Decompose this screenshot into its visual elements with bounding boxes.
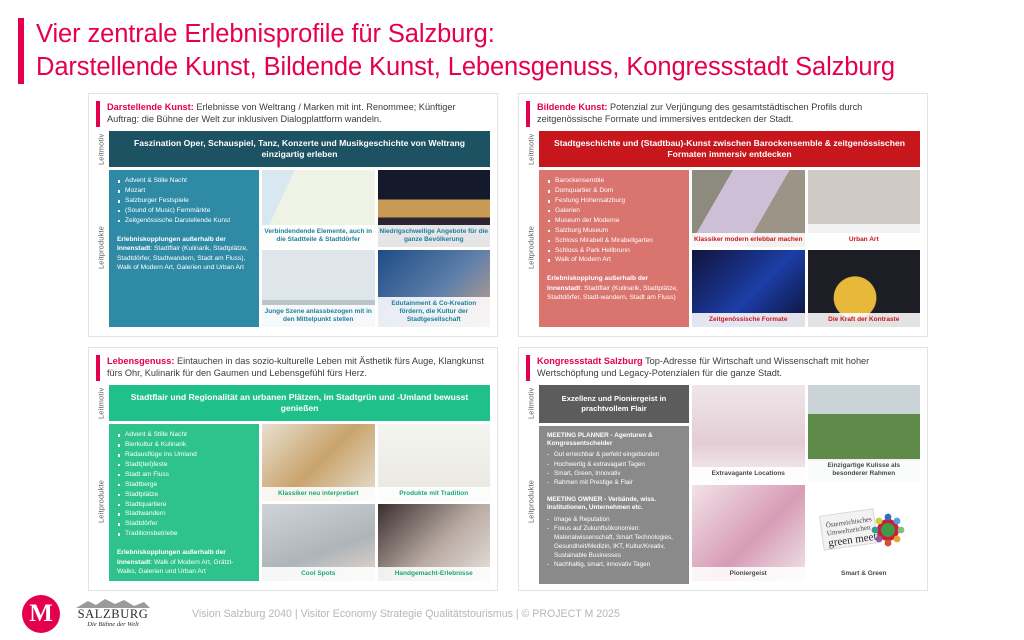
image-tile: Einzigartige Kulisse als besonderer Rahm…: [808, 385, 921, 482]
panel-lead-label: Kongressstadt Salzburg: [537, 356, 643, 366]
panel-lower: Exzellenz und Pioniergeist in prachtvoll…: [539, 385, 920, 581]
list-item: Advent & Stille Nacht: [117, 176, 252, 186]
page-title: Vier zentrale Erlebnisprofile für Salzbu…: [18, 18, 1008, 84]
list-item: Galerien: [547, 206, 682, 216]
panel-body: Leitmotiv LeitprodukteStadtflair und Reg…: [89, 385, 497, 588]
panel-header: Lebensgenuss: Eintauchen in das sozio-ku…: [89, 348, 497, 385]
tile-caption: Extravagante Locations: [692, 467, 805, 481]
rail-label-leitprodukte: Leitprodukte: [93, 421, 109, 581]
image-tile: Klassiker modern erlebbar machen: [692, 170, 805, 247]
panel-accent-bar: [526, 101, 530, 127]
image-grid: Verbindendende Elemente, auch in die Sta…: [262, 170, 490, 327]
leitmotiv-banner: Stadtflair und Regionalität an urbanen P…: [109, 385, 490, 421]
title-text: Vier zentrale Erlebnisprofile für Salzbu…: [36, 18, 895, 84]
rail-label-leitmotiv: Leitmotiv: [523, 131, 539, 167]
leitmotiv-banner: Faszination Oper, Schauspiel, Tanz, Konz…: [109, 131, 490, 167]
list-item: Fokus auf Zukunftsökonomien: Materialwis…: [547, 524, 682, 561]
erlebniskopplung-text: Erlebniskopplungen außerhalb der Innenst…: [117, 235, 252, 273]
leitmotiv-leitprodukte-column: Exzellenz und Pioniergeist in prachtvoll…: [539, 385, 689, 581]
tile-caption: Junge Szene anlassbezogen mit in den Mit…: [262, 305, 375, 327]
list-item: Smart, Green, Innovativ: [547, 469, 682, 478]
image-tile: Pioniergeist: [692, 485, 805, 582]
rail-label-leitprodukte: Leitprodukte: [523, 421, 539, 581]
panel-lebensgenuss: Lebensgenuss: Eintauchen in das sozio-ku…: [88, 347, 498, 591]
panel-header: Kongressstadt Salzburg Top-Adresse für W…: [519, 348, 927, 385]
panel-header: Darstellende Kunst: Erlebnisse von Weltr…: [89, 94, 497, 131]
panel-darstellende-kunst: Darstellende Kunst: Erlebnisse von Weltr…: [88, 93, 498, 337]
image-tile: Cool Spots: [262, 504, 375, 581]
list-item: Walk of Modern Art: [547, 255, 682, 265]
image-tile: Verbindendende Elemente, auch in die Sta…: [262, 170, 375, 247]
panel-main: Stadtflair und Regionalität an urbanen P…: [109, 385, 490, 581]
image-grid: Klassiker modern erlebbar machenUrban Ar…: [692, 170, 920, 327]
leitprodukte-list: Advent & Stille NachtMozartSalzburger Fe…: [117, 176, 252, 225]
panel-accent-bar: [526, 355, 530, 381]
list-item: Bierkultur & Kulinarik: [117, 440, 252, 450]
product-group-title: MEETING PLANNER - Agenturen & Kongressen…: [547, 432, 682, 449]
rail-label-leitmotiv: Leitmotiv: [523, 385, 539, 421]
leitprodukte-box: Advent & Stille NachtMozartSalzburger Fe…: [109, 170, 259, 327]
image-tile: Die Kraft der Kontraste: [808, 250, 921, 327]
panel-rail: Leitmotiv Leitprodukte: [93, 385, 109, 581]
tile-caption: Einzigartige Kulisse als besonderer Rahm…: [808, 459, 921, 481]
leitmotiv-banner: Exzellenz und Pioniergeist in prachtvoll…: [539, 385, 689, 423]
panel-lead-label: Darstellende Kunst:: [107, 102, 194, 112]
salzburg-brand-logo: SALZBURG Die Bühne der Welt: [74, 599, 152, 628]
brand-name: SALZBURG: [74, 608, 152, 621]
tile-caption: Cool Spots: [262, 567, 375, 581]
list-item: Advent & Stille Nacht: [117, 430, 252, 440]
image-tile: Junge Szene anlassbezogen mit in den Mit…: [262, 250, 375, 327]
tile-caption: Smart & Green: [808, 567, 921, 581]
panel-accent-bar: [96, 355, 100, 381]
list-item: Mozart: [117, 186, 252, 196]
panel-rail: Leitmotiv Leitprodukte: [93, 131, 109, 327]
list-item: Radausflüge ins Umland: [117, 450, 252, 460]
tile-caption: Produkte mit Tradition: [378, 487, 491, 501]
image-tile: Urban Art: [808, 170, 921, 247]
image-tile: Zeitgenössische Formate: [692, 250, 805, 327]
image-tile: ÖsterreichischesUmweltzeichengreen meeti…: [808, 485, 921, 582]
panel-lower: BarockensembleDomquartier & DomFestung H…: [539, 170, 920, 327]
list-item: Zeitgenössische Darstellende Kunst: [117, 216, 252, 226]
tile-caption: Die Kraft der Kontraste: [808, 313, 921, 327]
brand-tagline: Die Bühne der Welt: [74, 622, 152, 629]
list-item: Salzburg Museum: [547, 226, 682, 236]
image-tile: Klassiker neu interpretiert: [262, 424, 375, 501]
list-item: Schloss Mirabell & Mirabellgarten: [547, 236, 682, 246]
list-item: Image & Reputation: [547, 515, 682, 524]
leitmotiv-banner: Stadtgeschichte und (Stadtbau)-Kunst zwi…: [539, 131, 920, 167]
panel-lead-label: Lebensgenuss:: [107, 356, 174, 366]
image-tile: Produkte mit Tradition: [378, 424, 491, 501]
title-accent-bar: [18, 18, 24, 84]
image-tile: Niedrigschwellige Angebote für die ganze…: [378, 170, 491, 247]
tile-caption: Verbindendende Elemente, auch in die Sta…: [262, 225, 375, 247]
image-tile: Edutainment & Co-Kreation fördern, die K…: [378, 250, 491, 327]
list-item: Festung Hohensalzburg: [547, 196, 682, 206]
product-group-list: Image & ReputationFokus auf Zukunftsökon…: [547, 515, 682, 570]
panel-kongressstadt-salzburg: Kongressstadt Salzburg Top-Adresse für W…: [518, 347, 928, 591]
erlebniskopplung-text: Erlebniskopplungen außerhalb der Innenst…: [117, 548, 252, 577]
m-logo: M: [22, 595, 60, 633]
list-item: Traditionsbetriebe: [117, 529, 252, 539]
list-item: Hochwertig & extravagant Tagen: [547, 460, 682, 469]
rail-label-leitmotiv: Leitmotiv: [93, 131, 109, 167]
tile-caption: Niedrigschwellige Angebote für die ganze…: [378, 225, 491, 247]
footer: M SALZBURG Die Bühne der Welt Vision Sal…: [0, 588, 1024, 640]
list-item: Stadt(teil)feste: [117, 460, 252, 470]
image-grid: Extravagante LocationsEinzigartige Kulis…: [692, 385, 920, 581]
panel-header: Bildende Kunst: Potenzial zur Verjüngung…: [519, 94, 927, 131]
panel-rail: Leitmotiv Leitprodukte: [523, 385, 539, 581]
tile-caption: Handgemacht-Erlebnisse: [378, 567, 491, 581]
list-item: Museum der Moderne: [547, 216, 682, 226]
tile-caption: Urban Art: [808, 233, 921, 247]
panel-bildende-kunst: Bildende Kunst: Potenzial zur Verjüngung…: [518, 93, 928, 337]
panel-headline: Darstellende Kunst: Erlebnisse von Weltr…: [107, 101, 489, 125]
list-item: Nachhaltig, smart, innovativ Tagen: [547, 560, 682, 569]
list-item: Stadtquartiere: [117, 500, 252, 510]
list-item: Stadtberge: [117, 480, 252, 490]
panel-lower: Advent & Stille NachtBierkultur & Kulina…: [109, 424, 490, 581]
image-tile: Extravagante Locations: [692, 385, 805, 482]
tile-caption: Edutainment & Co-Kreation fördern, die K…: [378, 297, 491, 327]
list-item: Rahmen mit Prestige & Flair: [547, 478, 682, 487]
leitprodukte-box: Advent & Stille NachtBierkultur & Kulina…: [109, 424, 259, 581]
list-item: Stadtwandern: [117, 509, 252, 519]
leitprodukte-list: BarockensembleDomquartier & DomFestung H…: [547, 176, 682, 265]
list-item: Domquartier & Dom: [547, 186, 682, 196]
panel-headline: Bildende Kunst: Potenzial zur Verjüngung…: [537, 101, 919, 125]
tile-caption: Klassiker neu interpretiert: [262, 487, 375, 501]
leitprodukte-box: MEETING PLANNER - Agenturen & Kongressen…: [539, 426, 689, 585]
panel-lead-label: Bildende Kunst:: [537, 102, 607, 112]
rail-label-leitprodukte: Leitprodukte: [93, 167, 109, 327]
erlebniskopplung-text: Erlebniskopplung außerhalb der Innenstad…: [547, 274, 682, 303]
panel-lower: Advent & Stille NachtMozartSalzburger Fe…: [109, 170, 490, 327]
list-item: Barockensemble: [547, 176, 682, 186]
image-tile: Handgemacht-Erlebnisse: [378, 504, 491, 581]
leitprodukte-box: BarockensembleDomquartier & DomFestung H…: [539, 170, 689, 327]
panel-body: Leitmotiv LeitprodukteFaszination Oper, …: [89, 131, 497, 334]
panel-body: Leitmotiv LeitprodukteExzellenz und Pion…: [519, 385, 927, 588]
product-group-title: MEETING OWNER - Verbände, wiss. Institut…: [547, 496, 682, 513]
list-item: Gut erreichbar & perfekt eingebunden: [547, 450, 682, 459]
list-item: (Sound of Music) Fernmärkte: [117, 206, 252, 216]
tile-caption: Klassiker modern erlebbar machen: [692, 233, 805, 247]
panel-main: Exzellenz und Pioniergeist in prachtvoll…: [539, 385, 920, 581]
product-group-list: Gut erreichbar & perfekt eingebundenHoch…: [547, 450, 682, 487]
rail-label-leitmotiv: Leitmotiv: [93, 385, 109, 421]
list-item: Schloss & Park Hellbrunn: [547, 246, 682, 256]
panel-headline: Kongressstadt Salzburg Top-Adresse für W…: [537, 355, 919, 379]
panel-rail: Leitmotiv Leitprodukte: [523, 131, 539, 327]
tile-caption: Zeitgenössische Formate: [692, 313, 805, 327]
rail-label-leitprodukte: Leitprodukte: [523, 167, 539, 327]
list-item: Stadtplätze: [117, 490, 252, 500]
list-item: Stadtdörfer: [117, 519, 252, 529]
panel-main: Faszination Oper, Schauspiel, Tanz, Konz…: [109, 131, 490, 327]
panel-accent-bar: [96, 101, 100, 127]
tile-caption: Pioniergeist: [692, 567, 805, 581]
list-item: Salzburger Festspiele: [117, 196, 252, 206]
mountain-icon: [74, 599, 152, 608]
image-grid: Klassiker neu interpretiertProdukte mit …: [262, 424, 490, 581]
list-item: Stadt am Fluss: [117, 470, 252, 480]
panel-main: Stadtgeschichte und (Stadtbau)-Kunst zwi…: [539, 131, 920, 327]
leitprodukte-list: Advent & Stille NachtBierkultur & Kulina…: [117, 430, 252, 539]
panel-body: Leitmotiv LeitprodukteStadtgeschichte un…: [519, 131, 927, 334]
panel-headline: Lebensgenuss: Eintauchen in das sozio-ku…: [107, 355, 489, 379]
footer-credit: Vision Salzburg 2040 | Visitor Economy S…: [192, 608, 620, 620]
